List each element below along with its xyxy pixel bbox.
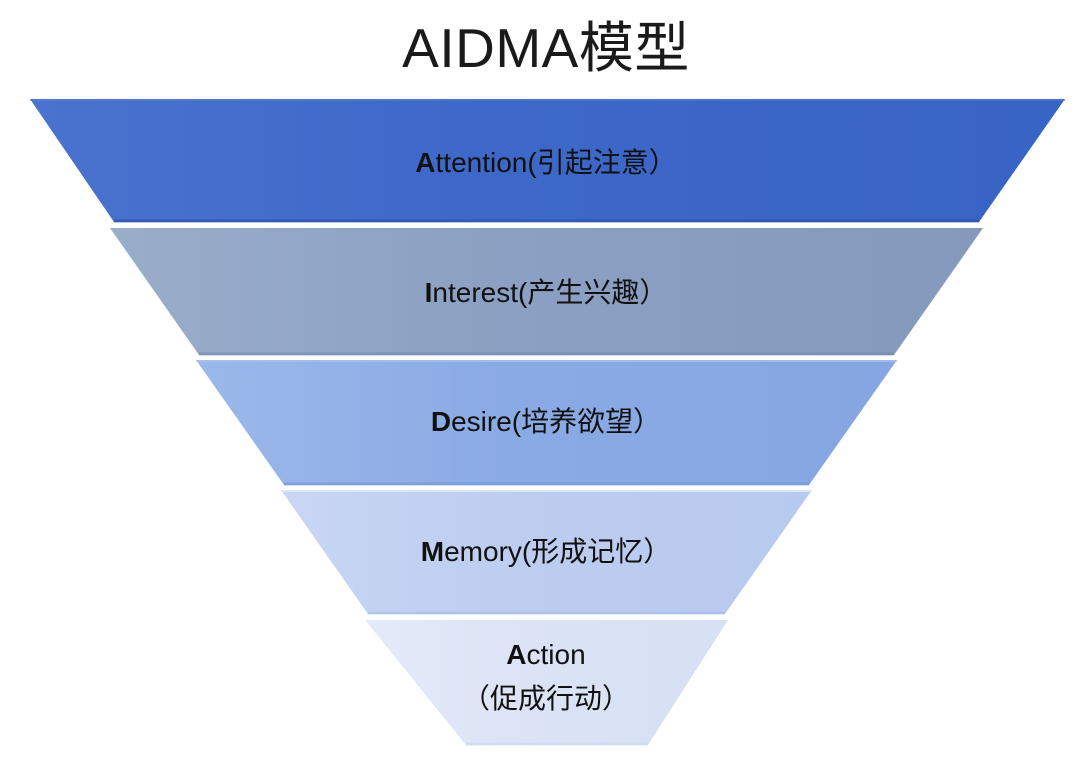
funnel-segment-desire[interactable] — [196, 360, 897, 485]
funnel-segment-action[interactable] — [365, 620, 728, 745]
funnel-segment-action-shape — [365, 620, 728, 745]
funnel-segment-memory-shape — [281, 490, 812, 614]
funnel-chart — [0, 0, 1092, 776]
funnel-svg — [0, 0, 1092, 776]
aidma-model-diagram: AIDMA模型 — [0, 0, 1092, 776]
funnel-segment-attention-shape — [30, 99, 1065, 222]
funnel-segment-interest-shape — [110, 228, 983, 355]
funnel-segment-memory[interactable] — [281, 490, 812, 614]
funnel-segment-interest[interactable] — [110, 228, 983, 355]
funnel-segment-attention[interactable] — [30, 99, 1065, 222]
funnel-segment-desire-shape — [196, 360, 897, 485]
